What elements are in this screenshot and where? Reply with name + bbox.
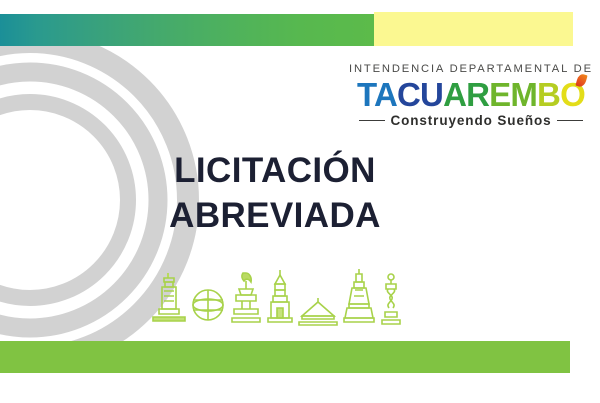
- logo-top-line: INTENDENCIA DEPARTAMENTAL DE: [348, 62, 594, 76]
- monuments-strip: [152, 264, 402, 326]
- monument-spiral-column-icon: [380, 272, 402, 326]
- monument-obelisk-pedestal-icon: [152, 270, 186, 326]
- wordmark-segment-ta: TA: [357, 76, 397, 113]
- monument-pavilion-roof-icon: [298, 296, 338, 326]
- wordmark-segment-ar: AR: [443, 76, 489, 113]
- monument-globe-sphere-icon: [191, 278, 225, 326]
- wordmark-segment-cu: CU: [397, 76, 443, 113]
- bottom-green-bar: [0, 341, 570, 373]
- logo-tagline: Construyendo Sueños: [390, 113, 551, 128]
- banner-root: INTENDENCIA DEPARTAMENTAL DE TACUAREMBO …: [0, 0, 600, 403]
- logo-tagline-row: Construyendo Sueños: [348, 113, 594, 128]
- wordmark-segment-b: B: [537, 76, 560, 113]
- monument-church-tower-icon: [267, 268, 293, 326]
- page-title: LICITACIÓN ABREVIADA: [60, 148, 490, 238]
- monument-eiffel-tower-icon: [343, 268, 375, 326]
- tagline-dash-right: [557, 120, 583, 122]
- title-line-2: ABREVIADA: [60, 193, 490, 238]
- title-line-1: LICITACIÓN: [174, 151, 376, 190]
- top-yellow-bar: [374, 12, 573, 46]
- wordmark-segment-em: EM: [489, 76, 537, 113]
- top-gradient-bar: [0, 14, 374, 46]
- tagline-dash-left: [359, 120, 385, 122]
- institution-logo: INTENDENCIA DEPARTAMENTAL DE TACUAREMBO …: [348, 62, 594, 128]
- monument-fountain-statue-icon: [230, 270, 262, 326]
- logo-wordmark: TACUAREMBO: [348, 78, 594, 112]
